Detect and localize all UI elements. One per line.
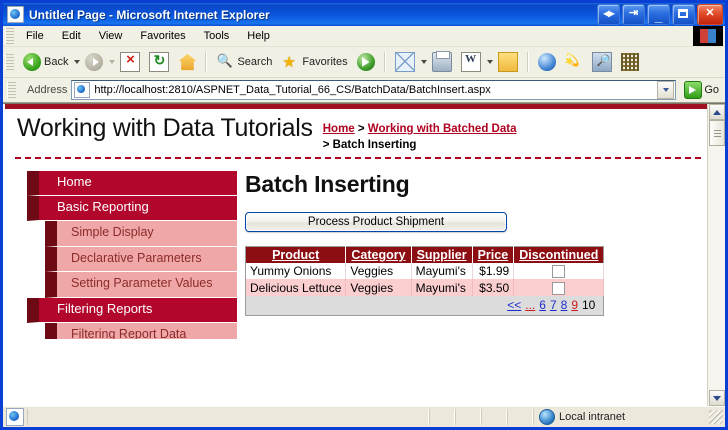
grid-header-row: Product Category Supplier Price Disconti…: [246, 247, 604, 264]
process-product-shipment-button[interactable]: Process Product Shipment: [245, 212, 507, 232]
column-header-price[interactable]: Price: [472, 247, 514, 264]
media-icon: [357, 53, 375, 71]
window-title: Untitled Page - Microsoft Internet Explo…: [29, 8, 597, 22]
status-page-icon: [6, 408, 24, 426]
scroll-up-button[interactable]: [709, 104, 725, 120]
back-dropdown-icon[interactable]: [74, 60, 80, 64]
go-arrow-icon: [684, 81, 702, 99]
status-panel-3: [481, 409, 507, 425]
favorites-icon: [281, 53, 299, 71]
go-label: Go: [704, 84, 719, 96]
breadcrumb: Home > Working with Batched Data > Batch…: [323, 115, 701, 153]
scroll-down-button[interactable]: [709, 390, 725, 406]
sidebar-item-setting-parameter-values[interactable]: Setting Parameter Values: [45, 272, 237, 298]
back-button[interactable]: Back: [19, 51, 72, 73]
search-icon: [216, 53, 234, 71]
sidebar-item-home[interactable]: Home: [27, 171, 237, 196]
breadcrumb-current: Batch Inserting: [333, 139, 417, 151]
cell-category[interactable]: Veggies: [346, 279, 411, 295]
edit-button[interactable]: [457, 50, 485, 74]
toolbar-separator-2: [384, 52, 386, 72]
security-zone-panel[interactable]: Local intranet: [533, 409, 709, 425]
browser-window: Untitled Page - Microsoft Internet Explo…: [0, 0, 728, 430]
intranet-zone-icon: [539, 409, 555, 425]
notes-button[interactable]: [494, 50, 522, 74]
products-grid: Product Category Supplier Price Disconti…: [245, 246, 604, 316]
encarta-button[interactable]: [617, 51, 643, 73]
status-panel-2: [455, 409, 481, 425]
address-bar: Address http://localhost:2810/ASPNET_Dat…: [3, 78, 725, 103]
page-title: Batch Inserting: [245, 171, 699, 198]
print-button[interactable]: [428, 50, 456, 74]
pager-ellipsis-link[interactable]: ...: [525, 298, 535, 312]
minimize-glyph: _: [648, 5, 669, 24]
status-bar: Local intranet: [3, 406, 725, 427]
cell-category[interactable]: Veggies: [346, 263, 411, 279]
page-header: Working with Data Tutorials Home > Worki…: [5, 109, 707, 153]
favorites-label: Favorites: [302, 56, 347, 68]
menu-item-file[interactable]: File: [17, 28, 53, 44]
cell-product[interactable]: Delicious Lettuce: [246, 279, 346, 295]
search-label: Search: [237, 56, 272, 68]
messenger-icon: [565, 53, 583, 71]
cell-discontinued[interactable]: [514, 279, 604, 295]
page-body: Home Basic Reporting Simple Display Decl…: [5, 159, 707, 339]
close-button[interactable]: ✕: [697, 4, 723, 25]
discuss-icon: [538, 53, 556, 71]
scrollbar-track[interactable]: [709, 120, 725, 390]
column-header-discontinued-label: Discontinued: [519, 248, 598, 262]
sidebar-item-filtering-report-data[interactable]: Filtering Report Data: [45, 323, 237, 339]
forward-dropdown-icon[interactable]: [109, 60, 115, 64]
maximize-button[interactable]: [672, 4, 695, 25]
column-header-supplier[interactable]: Supplier: [411, 247, 472, 264]
mail-icon: [395, 52, 415, 72]
breadcrumb-separator-2: >: [323, 139, 333, 151]
table-row: Delicious Lettuce Veggies Mayumi's $3.50: [246, 279, 604, 295]
scrollbar-thumb[interactable]: [709, 120, 725, 146]
pager-cell: <<...678910: [246, 296, 604, 316]
print-icon: [432, 52, 452, 72]
address-label: Address: [23, 84, 67, 96]
refresh-button[interactable]: [145, 50, 173, 74]
column-header-product[interactable]: Product: [246, 247, 346, 264]
mail-button[interactable]: [391, 50, 419, 74]
breadcrumb-link-home[interactable]: Home: [323, 123, 355, 135]
discontinued-checkbox[interactable]: [552, 282, 565, 295]
home-icon: [178, 53, 196, 71]
security-zone-label: Local intranet: [559, 411, 625, 423]
notes-icon: [498, 52, 518, 72]
encarta-icon: [621, 53, 639, 71]
mail-dropdown-icon[interactable]: [421, 60, 427, 64]
address-grip[interactable]: [7, 82, 16, 98]
address-url-text: http://localhost:2810/ASPNET_Data_Tutori…: [94, 84, 653, 96]
browser-toolbar: Back Search Favorites: [3, 47, 725, 78]
toolbar-grip[interactable]: [5, 54, 14, 70]
cell-price[interactable]: $3.50: [472, 279, 514, 295]
go-button[interactable]: Go: [680, 81, 723, 99]
menu-item-help[interactable]: Help: [238, 28, 279, 44]
minimize-button[interactable]: _: [647, 4, 670, 25]
refresh-icon: [149, 52, 169, 72]
sidebar-item-basic-reporting[interactable]: Basic Reporting: [27, 196, 237, 221]
column-header-discontinued[interactable]: Discontinued: [514, 247, 604, 264]
column-header-category-label: Category: [351, 248, 405, 262]
switch-window-button[interactable]: ⇥: [622, 4, 645, 25]
page-viewport: Working with Data Tutorials Home > Worki…: [3, 103, 725, 406]
cell-supplier[interactable]: Mayumi's: [411, 279, 472, 295]
breadcrumb-separator-1: >: [355, 123, 368, 135]
messenger-button[interactable]: [561, 51, 587, 73]
sidebar-item-filtering-reports[interactable]: Filtering Reports: [27, 298, 237, 323]
home-button[interactable]: [174, 51, 200, 73]
back-label: Back: [44, 56, 68, 68]
menu-item-tools[interactable]: Tools: [195, 28, 239, 44]
menu-item-favorites[interactable]: Favorites: [131, 28, 194, 44]
column-header-category[interactable]: Category: [346, 247, 411, 264]
pager-first-link[interactable]: <<: [507, 298, 521, 312]
menu-item-edit[interactable]: Edit: [53, 28, 90, 44]
discontinued-checkbox[interactable]: [552, 265, 565, 278]
toolbar-separator-3: [527, 52, 529, 72]
column-header-product-label: Product: [272, 248, 319, 262]
stop-button[interactable]: [116, 50, 144, 74]
discuss-button[interactable]: [534, 51, 560, 73]
ie-app-icon: [7, 6, 24, 23]
resize-grip[interactable]: [709, 410, 723, 424]
window-buttons: ⇥ _ ✕: [597, 4, 723, 25]
edit-dropdown-icon[interactable]: [487, 60, 493, 64]
cell-price[interactable]: $1.99: [472, 263, 514, 279]
forward-icon: [85, 53, 103, 71]
process-button-wrapper: Process Product Shipment: [245, 212, 699, 232]
pager-current-page: 10: [582, 298, 595, 312]
restore-window-button[interactable]: [597, 4, 620, 25]
address-dropdown-icon[interactable]: [657, 81, 674, 99]
column-header-price-label: Price: [478, 248, 509, 262]
pager-page-9[interactable]: 9: [571, 298, 578, 312]
status-panel-1: [429, 409, 455, 425]
edit-word-icon: [461, 52, 481, 72]
close-glyph: ✕: [698, 5, 722, 24]
search-button[interactable]: Search: [212, 51, 276, 73]
status-panel-4: [507, 409, 533, 425]
cell-product[interactable]: Yummy Onions: [246, 263, 346, 279]
windows-flag-logo: [693, 26, 723, 46]
breadcrumb-link-section[interactable]: Working with Batched Data: [368, 123, 517, 135]
research-icon: [592, 52, 612, 72]
sidebar-nav: Home Basic Reporting Simple Display Decl…: [5, 159, 237, 339]
table-row: Yummy Onions Veggies Mayumi's $1.99: [246, 263, 604, 279]
vertical-scrollbar[interactable]: [707, 104, 725, 406]
research-button[interactable]: [588, 50, 616, 74]
pager-page-8[interactable]: 8: [561, 298, 568, 312]
status-message-panel: [27, 409, 429, 425]
site-title: Working with Data Tutorials: [17, 115, 313, 143]
toolbar-separator: [205, 52, 207, 72]
main-content: Batch Inserting Process Product Shipment…: [237, 159, 707, 339]
favorites-button[interactable]: Favorites: [277, 51, 351, 73]
cell-discontinued[interactable]: [514, 263, 604, 279]
switch-window-glyph: ⇥: [623, 5, 644, 24]
column-header-supplier-label: Supplier: [417, 248, 467, 262]
sidebar-item-simple-display[interactable]: Simple Display: [45, 221, 237, 247]
media-button[interactable]: [353, 51, 379, 73]
sidebar-item-declarative-parameters[interactable]: Declarative Parameters: [45, 247, 237, 273]
back-icon: [23, 53, 41, 71]
forward-button[interactable]: [81, 51, 107, 73]
web-page: Working with Data Tutorials Home > Worki…: [3, 104, 707, 406]
grid-pager-row: <<...678910: [246, 296, 604, 316]
menu-bar: File Edit View Favorites Tools Help: [3, 26, 725, 47]
title-bar: Untitled Page - Microsoft Internet Explo…: [3, 3, 725, 26]
pager-page-6[interactable]: 6: [539, 298, 546, 312]
menu-item-view[interactable]: View: [90, 28, 132, 44]
menubar-grip[interactable]: [5, 28, 14, 44]
page-icon: [74, 82, 90, 98]
stop-icon: [120, 52, 140, 72]
pager-page-7[interactable]: 7: [550, 298, 557, 312]
cell-supplier[interactable]: Mayumi's: [411, 263, 472, 279]
address-input[interactable]: http://localhost:2810/ASPNET_Data_Tutori…: [71, 80, 676, 100]
